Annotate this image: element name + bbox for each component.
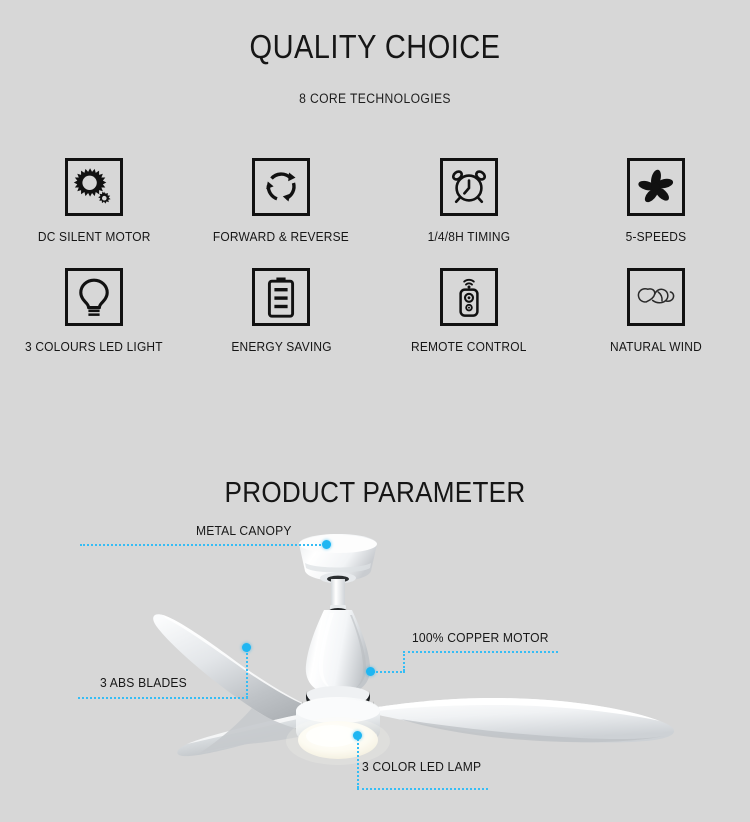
feature-energy-saving: ENERGY SAVING <box>188 268 376 354</box>
infographic-page: QUALITY CHOICE 8 CORE TECHNOLOGIES <box>0 0 750 822</box>
battery-icon <box>252 268 310 326</box>
product-diagram: METAL CANOPY 100% COPPER MOTOR 3 ABS BLA… <box>0 505 750 822</box>
feature-timing: 1/4/8H TIMING <box>375 158 563 244</box>
feature-label: 5-SPEEDS <box>626 229 687 244</box>
feature-remote-control: REMOTE CONTROL <box>375 268 563 354</box>
callout-line-led-lamp-bottom <box>357 788 488 790</box>
feature-led-light: 3 COLOURS LED LIGHT <box>0 268 188 354</box>
callout-line-abs-blades-vert <box>246 650 248 698</box>
feature-row: DC SILENT MOTOR FORWARD & R <box>0 158 750 244</box>
alarm-clock-icon <box>440 158 498 216</box>
callout-line-copper-motor-bottom <box>373 671 405 673</box>
fan-blades-icon <box>627 158 685 216</box>
callout-label-led-lamp: 3 COLOR LED LAMP <box>362 759 481 774</box>
callout-label-copper-motor: 100% COPPER MOTOR <box>412 630 549 645</box>
ceiling-fan-image <box>0 505 750 822</box>
callout-line-led-lamp-vert <box>357 736 359 788</box>
feature-label: DC SILENT MOTOR <box>37 229 150 244</box>
callout-dot-led-lamp[interactable] <box>353 731 362 740</box>
circular-arrows-icon <box>252 158 310 216</box>
callout-dot-metal-canopy[interactable] <box>322 540 331 549</box>
feature-grid: DC SILENT MOTOR FORWARD & R <box>0 158 750 378</box>
feature-natural-wind: NATURAL WIND <box>563 268 750 354</box>
feature-5-speeds: 5-SPEEDS <box>563 158 750 244</box>
feature-dc-silent-motor: DC SILENT MOTOR <box>0 158 188 244</box>
callout-label-metal-canopy: METAL CANOPY <box>196 523 292 538</box>
feature-label: 1/4/8H TIMING <box>427 229 510 244</box>
page-subtitle: 8 CORE TECHNOLOGIES <box>38 91 713 106</box>
callout-label-abs-blades: 3 ABS BLADES <box>100 675 187 690</box>
feature-label: REMOTE CONTROL <box>411 339 527 354</box>
callout-dot-abs-blades[interactable] <box>242 643 251 652</box>
wind-swirl-icon <box>627 268 685 326</box>
callout-line-copper-motor-vert <box>403 651 405 671</box>
feature-label: ENERGY SAVING <box>231 339 331 354</box>
feature-label: FORWARD & REVERSE <box>213 229 349 244</box>
feature-label: NATURAL WIND <box>610 339 702 354</box>
light-bulb-icon <box>65 268 123 326</box>
callout-dot-copper-motor[interactable] <box>366 667 375 676</box>
feature-label: 3 COLOURS LED LIGHT <box>25 339 163 354</box>
page-title: QUALITY CHOICE <box>45 28 705 66</box>
gear-icon <box>65 158 123 216</box>
callout-line-metal-canopy <box>80 544 325 546</box>
callout-line-copper-motor-top <box>403 651 558 653</box>
callout-line-abs-blades-bottom <box>78 697 248 699</box>
remote-control-icon <box>440 268 498 326</box>
feature-row: 3 COLOURS LED LIGHT ENERGY SAVING <box>0 268 750 354</box>
feature-forward-reverse: FORWARD & REVERSE <box>188 158 376 244</box>
